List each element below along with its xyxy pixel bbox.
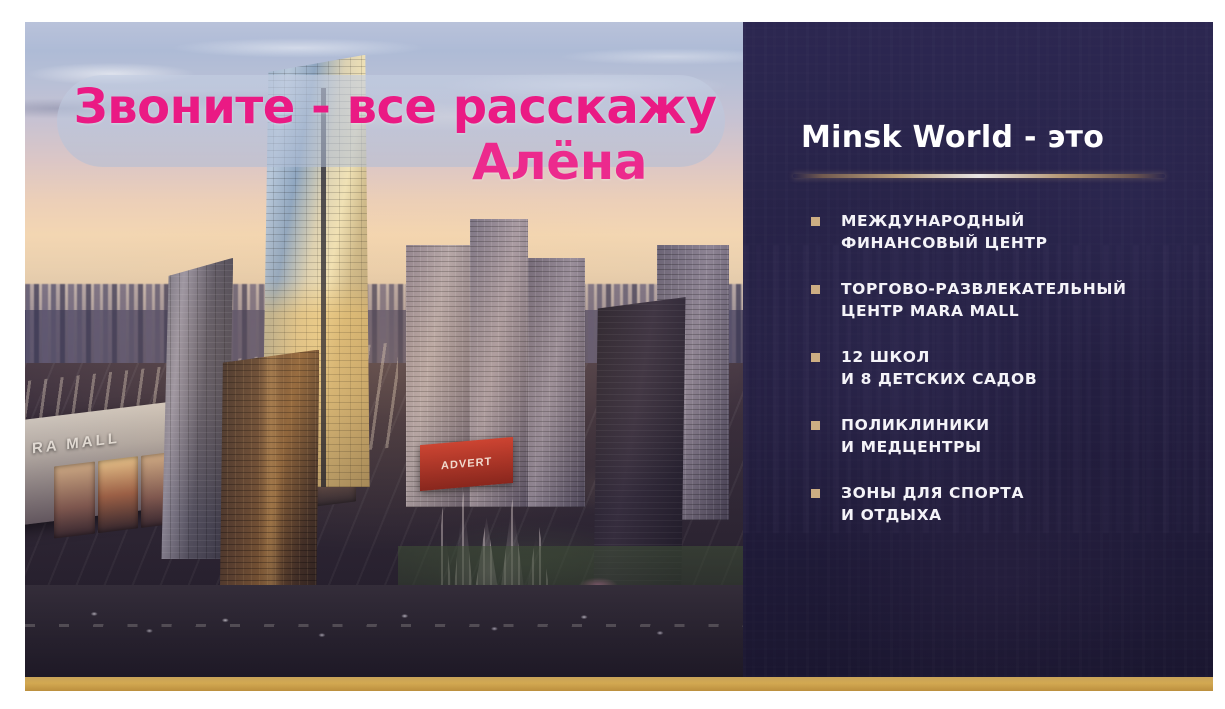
list-item-line-1: ЗОНЫ ДЛЯ СПОРТА — [841, 482, 1201, 504]
slide: RA MALL ADVERT Звоните - все расскажу Ал… — [25, 22, 1213, 677]
headline-line-1: Звоните - все расскажу — [74, 79, 717, 135]
bullet-square-icon — [811, 353, 820, 362]
bullet-square-icon — [811, 285, 820, 294]
cars — [39, 598, 728, 650]
bullet-square-icon — [811, 421, 820, 430]
feature-list: МЕЖДУНАРОДНЫЙ ФИНАНСОВЫЙ ЦЕНТР ТОРГОВО-Р… — [811, 210, 1201, 550]
list-item-line-2: ФИНАНСОВЫЙ ЦЕНТР — [841, 232, 1201, 254]
panel-content: Minsk World - это МЕЖДУНАРОДНЫЙ ФИНАНСОВ… — [743, 22, 1213, 677]
list-item: ТОРГОВО-РАЗВЛЕКАТЕЛЬНЫЙ ЦЕНТР MARA MALL — [811, 278, 1201, 322]
gold-divider — [793, 174, 1165, 178]
panel-title: Minsk World - это — [801, 120, 1104, 155]
billboard-panel — [97, 456, 138, 533]
list-item-line-2: И 8 ДЕТСКИХ САДОВ — [841, 368, 1201, 390]
bullet-square-icon — [811, 217, 820, 226]
list-item-line-1: ПОЛИКЛИНИКИ — [841, 414, 1201, 436]
list-item: ЗОНЫ ДЛЯ СПОРТА И ОТДЫХА — [811, 482, 1201, 526]
advert-billboard: ADVERT — [420, 437, 513, 491]
headline-line-2: Алёна — [57, 136, 733, 189]
list-item-line-1: МЕЖДУНАРОДНЫЙ — [841, 210, 1201, 232]
list-item: МЕЖДУНАРОДНЫЙ ФИНАНСОВЫЙ ЦЕНТР — [811, 210, 1201, 254]
bottom-gold-bar — [25, 677, 1213, 691]
list-item-line-2: ЦЕНТР MARA MALL — [841, 300, 1201, 322]
cityscape-photo: RA MALL ADVERT Звоните - все расскажу Ал… — [25, 22, 743, 677]
list-item-line-2: И ОТДЫХА — [841, 504, 1201, 526]
residential-tower-c — [528, 258, 585, 507]
info-panel: Minsk World - это МЕЖДУНАРОДНЫЙ ФИНАНСОВ… — [743, 22, 1213, 677]
bullet-square-icon — [811, 489, 820, 498]
billboard-panel — [54, 461, 95, 538]
list-item-line-1: 12 ШКОЛ — [841, 346, 1201, 368]
list-item: ПОЛИКЛИНИКИ И МЕДЦЕНТРЫ — [811, 414, 1201, 458]
headline: Звоните - все расскажу Алёна — [57, 82, 733, 189]
list-item: 12 ШКОЛ И 8 ДЕТСКИХ САДОВ — [811, 346, 1201, 390]
list-item-line-1: ТОРГОВО-РАЗВЛЕКАТЕЛЬНЫЙ — [841, 278, 1201, 300]
list-item-line-2: И МЕДЦЕНТРЫ — [841, 436, 1201, 458]
